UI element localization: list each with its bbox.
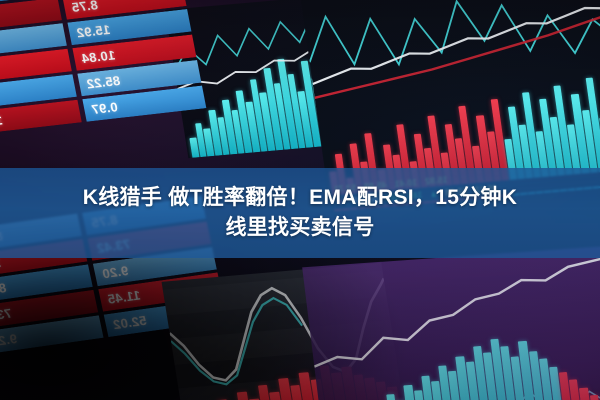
- cover-image: 15.92 10.41 45.88 52.71 68.73 8.23 46.13…: [0, 0, 600, 400]
- title-line-1: K线猎手 做T胜率翻倍！EMA配RSI，15分钟K: [83, 183, 518, 213]
- page-title: K线猎手 做T胜率翻倍！EMA配RSI，15分钟K 线里找买卖信号: [0, 170, 600, 256]
- title-line-2: 线里找买卖信号: [225, 213, 374, 243]
